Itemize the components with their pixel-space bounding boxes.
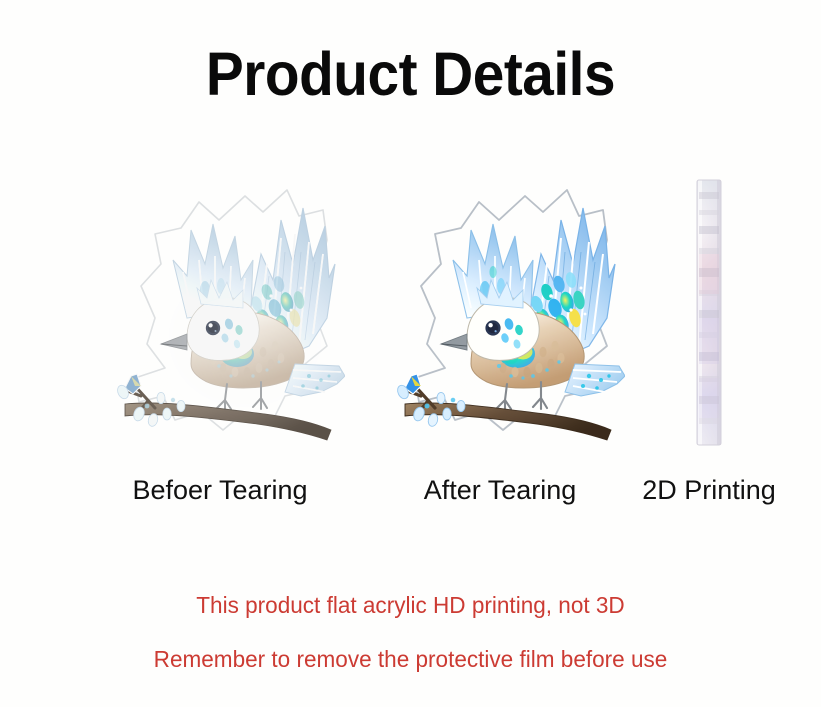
product-image-after-tearing: [375, 168, 625, 458]
caption-after-tearing: After Tearing: [375, 474, 625, 506]
note-remove-film: Remember to remove the protective film b…: [8, 645, 813, 673]
note-flat-acrylic: This product flat acrylic HD printing, n…: [8, 591, 813, 619]
product-image-row: [0, 168, 821, 458]
caption-before-tearing: Befoer Tearing: [95, 474, 345, 506]
product-details-page: Product Details: [0, 0, 821, 707]
product-image-edge-profile: [665, 168, 775, 458]
page-title: Product Details: [29, 41, 793, 107]
crystal-bird-sticker-icon: [95, 168, 345, 458]
caption-row: Befoer Tearing After Tearing 2D Printing: [0, 474, 821, 508]
caption-2d-printing: 2D Printing: [633, 474, 785, 506]
crystal-bird-sticker-icon: [375, 168, 625, 458]
acrylic-edge-strip-icon: [665, 168, 775, 458]
product-image-before-tearing: [95, 168, 345, 458]
